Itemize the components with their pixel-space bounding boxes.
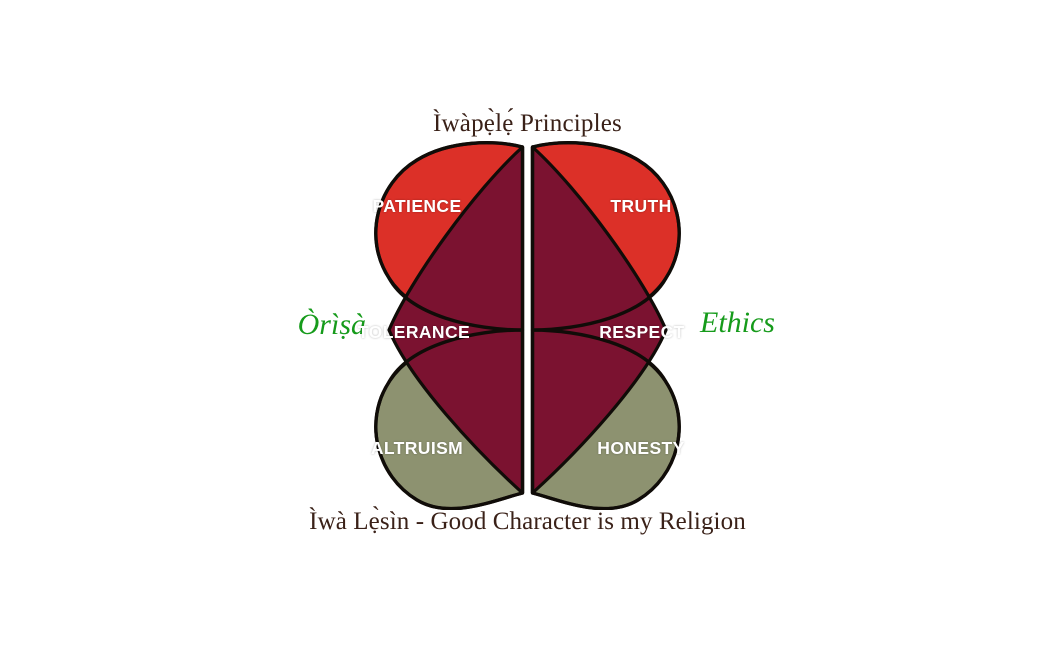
petal-label-tolerance: TOLERANCE [310,322,518,343]
petal-label-altruism: ALTRUISM [322,438,512,459]
petal-label-patience: PATIENCE [322,196,512,217]
petal-label-honesty: HONESTY [546,438,736,459]
diagram-canvas: Ìwàpẹ̀lẹ́ Principles Òrìṣà Ethics [0,0,1055,656]
petal-label-respect: RESPECT [538,322,746,343]
diagram-caption: Ìwà Lẹ̀sìn - Good Character is my Religi… [0,507,1055,537]
petal-label-truth: TRUTH [546,196,736,217]
